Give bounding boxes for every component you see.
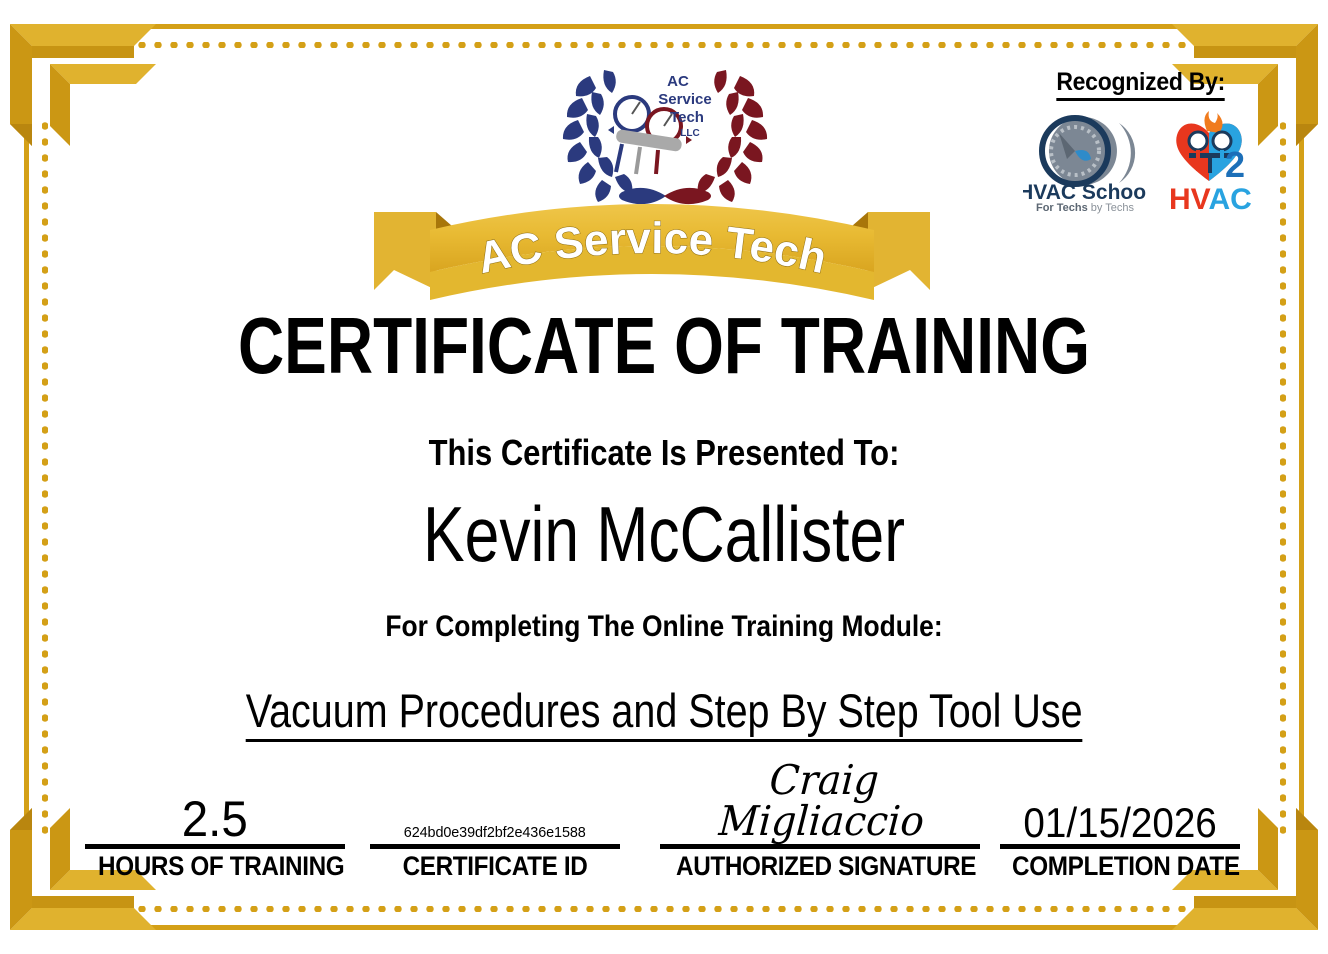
- border-top-solid: [118, 24, 1210, 29]
- emblem-text-tech: Tech: [670, 109, 704, 126]
- hvac-school-logo: HVAC School For Techs by Techs: [1023, 111, 1147, 215]
- emblem-text-llc: LLC: [680, 128, 699, 139]
- module-title-container: Vacuum Procedures and Step By Step Tool …: [0, 686, 1328, 742]
- module-label: For Completing The Online Training Modul…: [80, 610, 1249, 644]
- ac-service-tech-ribbon-banner: AC Service Tech: [372, 196, 932, 314]
- certificate-id-label: CERTIFICATE ID: [383, 851, 608, 882]
- hvac-2-logo: 2 HVAC: [1163, 111, 1259, 215]
- presented-to-label: This Certificate Is Presented To:: [93, 432, 1235, 474]
- signature-value-row: Craig Migliaccio: [660, 792, 980, 849]
- completion-date-label: COMPLETION DATE: [1012, 851, 1228, 882]
- hvac-school-tagline: For Techs by Techs: [1036, 202, 1135, 214]
- hvac-2-numeral: 2: [1225, 144, 1245, 185]
- border-bottom-solid: [118, 925, 1210, 930]
- hvac-2-wordmark: HVAC: [1169, 183, 1252, 215]
- hours-of-training-value: 2.5: [182, 794, 248, 844]
- laurel-right: [698, 70, 767, 202]
- certificate-page: AC Service Tech LLC: [0, 0, 1328, 954]
- hours-of-training-label: HOURS OF TRAINING: [98, 851, 332, 882]
- certificate-id-value: 624bd0e39df2bf2e436e1588: [404, 825, 586, 844]
- recipient-name: Kevin McCallister: [133, 494, 1195, 576]
- certificate-id-field: 624bd0e39df2bf2e436e1588 CERTIFICATE ID: [370, 792, 620, 882]
- page-title: CERTIFICATE OF TRAINING: [133, 306, 1195, 386]
- hours-of-training-field: 2.5 HOURS OF TRAINING: [85, 792, 345, 882]
- module-title: Vacuum Procedures and Step By Step Tool …: [246, 686, 1083, 742]
- recognized-by-block: Recognized By: HVAC School For Techs by …: [1016, 68, 1266, 215]
- authorized-signature-field: Craig Migliaccio AUTHORIZED SIGNATURE: [660, 792, 980, 882]
- completion-date-field: 01/15/2026 COMPLETION DATE: [1000, 792, 1240, 882]
- emblem-text-service: Service: [658, 91, 711, 108]
- recognized-by-title: Recognized By:: [1057, 68, 1226, 101]
- emblem-text-ac: AC: [667, 73, 689, 90]
- authorized-signature-value: Craig Migliaccio: [668, 760, 978, 844]
- certificate-id-value-row: 624bd0e39df2bf2e436e1588: [370, 792, 620, 849]
- border-bottom-dotted: [118, 906, 1210, 912]
- hvac-school-name: HVAC School: [1023, 181, 1147, 204]
- hours-value-row: 2.5: [85, 792, 345, 849]
- authorized-signature-label: AUTHORIZED SIGNATURE: [676, 851, 964, 882]
- completion-date-value: 01/15/2026: [1023, 802, 1216, 844]
- corner-ornament-top-left: [6, 6, 161, 154]
- border-top-dotted: [118, 42, 1210, 48]
- completion-date-value-row: 01/15/2026: [1000, 792, 1240, 849]
